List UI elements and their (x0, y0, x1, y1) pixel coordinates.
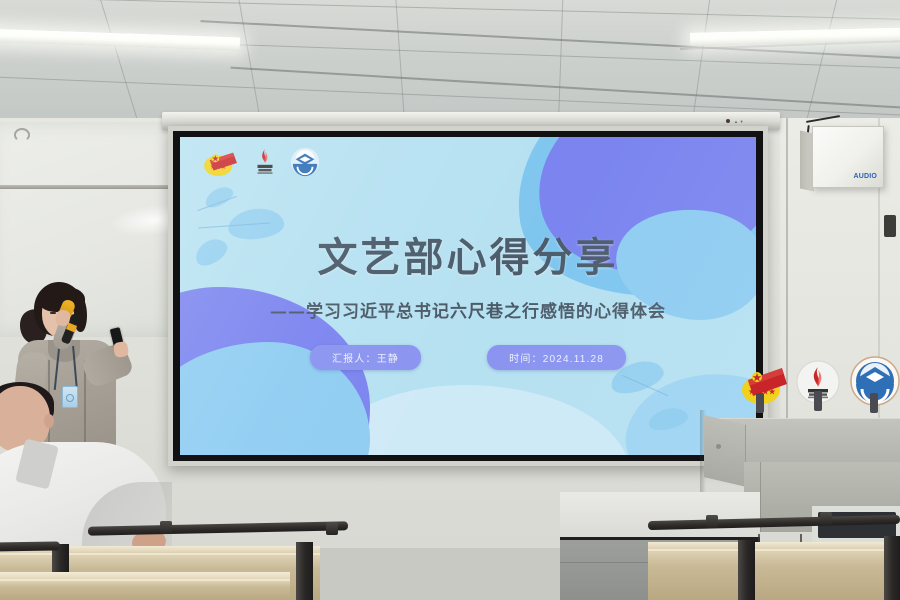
rail-clamp-2 (326, 522, 338, 535)
slide-meta-row: 汇报人：王静 时间：2024.11.28 (180, 345, 756, 370)
back-counter (560, 492, 760, 542)
slide-title: 文艺部心得分享 (180, 225, 756, 283)
ceiling-light-left (0, 29, 240, 51)
date-pill: 时间：2024.11.28 (487, 345, 626, 370)
screen-control-indicator (726, 119, 730, 123)
wall-speaker: AUDIO (812, 126, 884, 188)
project-logo-icon (252, 147, 278, 177)
classroom-scene: AUDIO ▲ ▼ (0, 0, 900, 600)
rail-clamp-3 (706, 515, 718, 528)
communist-youth-league-emblem-icon: ★★★ (202, 147, 240, 177)
ceiling-fitting-icon (14, 128, 30, 142)
speaker-logo: AUDIO (853, 173, 877, 180)
presenter-hand-with-phone (113, 341, 129, 358)
podium-side-panel (704, 415, 746, 487)
youth-league-plaque-icon: ★★★★ (740, 362, 788, 411)
podium-emblem-row: ★★★★ (740, 356, 900, 422)
desk-rail-left (0, 541, 60, 551)
podium-latch[interactable] (716, 444, 721, 449)
svg-text:★★★: ★★★ (210, 164, 226, 171)
desk-right[interactable] (648, 549, 900, 600)
university-plaque-icon (850, 356, 900, 411)
desk-post-left-2 (296, 542, 313, 600)
slide-logo-row: ★★★ (202, 147, 320, 177)
rail-clamp-4 (820, 512, 832, 525)
screen-control-panel[interactable]: ▲ ▼ (722, 116, 784, 126)
whiteboard-marker-rail (0, 185, 185, 189)
desk-near[interactable] (0, 579, 290, 600)
desk-post-right-1 (738, 540, 755, 600)
presentation-slide[interactable]: ★★★ (180, 137, 756, 455)
slide-subtitle: ——学习习近平总书记六尺巷之行感悟的心得体会 (180, 297, 756, 322)
project-plaque-icon (796, 360, 840, 409)
ceiling (0, 0, 900, 128)
wall-socket[interactable] (884, 215, 896, 237)
presenter-eye-left (50, 312, 56, 314)
desk-post-right-2 (884, 536, 900, 600)
university-emblem-icon (290, 147, 320, 177)
attendee-ear (44, 414, 54, 428)
rail-clamp-1 (160, 521, 172, 534)
presenter-pill: 汇报人：王静 (310, 345, 421, 370)
